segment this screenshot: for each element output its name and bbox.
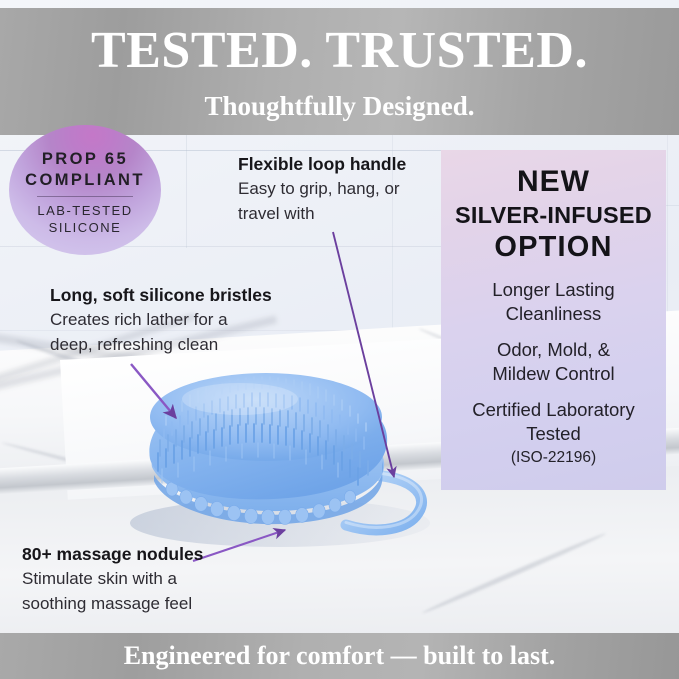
panel-benefit-1-line-2: Cleanliness bbox=[449, 302, 658, 326]
callout-nodules-line-1: Stimulate skin with a bbox=[22, 566, 203, 591]
silver-infused-panel: NEW SILVER-INFUSED OPTION Longer Lasting… bbox=[441, 150, 666, 490]
callout-bristles-line-1: Creates rich lather for a bbox=[50, 307, 272, 332]
callout-handle-line-2: travel with bbox=[238, 201, 406, 226]
subheadline: Thoughtfully Designed. bbox=[0, 90, 679, 122]
callout-silicone-bristles: Long, soft silicone bristles Creates ric… bbox=[50, 283, 272, 357]
product-infographic: TESTED. TRUSTED. Thoughtfully Designed. … bbox=[0, 0, 679, 679]
badge-divider bbox=[37, 196, 133, 197]
panel-benefit-1: Longer Lasting Cleanliness bbox=[449, 278, 658, 326]
panel-iso-note: (ISO-22196) bbox=[449, 448, 658, 468]
badge-line-2: COMPLIANT bbox=[25, 170, 145, 191]
callout-nodules-title: 80+ massage nodules bbox=[22, 542, 203, 566]
callout-handle-line-1: Easy to grip, hang, or bbox=[238, 176, 406, 201]
top-banner: TESTED. TRUSTED. Thoughtfully Designed. bbox=[0, 8, 679, 135]
product-image bbox=[120, 355, 450, 555]
panel-title-silver-infused: SILVER-INFUSED bbox=[449, 200, 658, 230]
panel-benefit-3-line-2: Tested bbox=[449, 422, 658, 446]
panel-benefit-3: Certified Laboratory Tested bbox=[449, 398, 658, 446]
callout-nodules-line-2: soothing massage feel bbox=[22, 591, 203, 616]
prop-65-badge: PROP 65 COMPLIANT LAB-TESTED SILICONE bbox=[9, 125, 161, 255]
panel-title-new: NEW bbox=[449, 164, 658, 200]
badge-line-4: SILICONE bbox=[49, 219, 122, 236]
headline: TESTED. TRUSTED. bbox=[0, 22, 679, 80]
callout-massage-nodules: 80+ massage nodules Stimulate skin with … bbox=[22, 542, 203, 616]
panel-benefit-3-line-1: Certified Laboratory bbox=[449, 398, 658, 422]
panel-benefit-2-line-2: Mildew Control bbox=[449, 362, 658, 386]
callout-bristles-line-2: deep, refreshing clean bbox=[50, 332, 272, 357]
callout-handle-title: Flexible loop handle bbox=[238, 152, 406, 176]
callout-flexible-loop-handle: Flexible loop handle Easy to grip, hang,… bbox=[238, 152, 406, 226]
bottom-tagline: Engineered for comfort — built to last. bbox=[0, 640, 679, 672]
badge-line-1: PROP 65 bbox=[42, 149, 128, 170]
panel-benefit-2: Odor, Mold, & Mildew Control bbox=[449, 338, 658, 386]
callout-bristles-title: Long, soft silicone bristles bbox=[50, 283, 272, 307]
panel-title-option: OPTION bbox=[449, 230, 658, 265]
badge-line-3: LAB-TESTED bbox=[37, 202, 132, 219]
panel-benefit-2-line-1: Odor, Mold, & bbox=[449, 338, 658, 362]
bottom-banner: Engineered for comfort — built to last. bbox=[0, 633, 679, 679]
panel-benefit-1-line-1: Longer Lasting bbox=[449, 278, 658, 302]
